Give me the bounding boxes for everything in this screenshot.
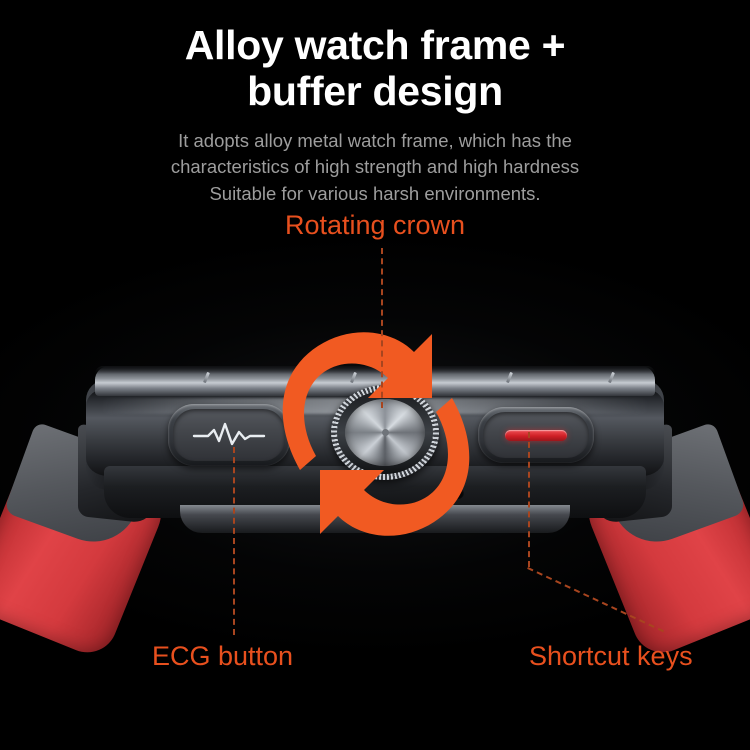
circular-rotation-arrows-icon <box>0 0 750 750</box>
smartwatch-side-view <box>0 0 750 750</box>
product-feature-slide: Alloy watch frame + buffer design It ado… <box>0 0 750 750</box>
callout-label-rotating-crown: Rotating crown <box>0 210 750 241</box>
callout-label-ecg-button: ECG button <box>152 641 293 672</box>
callout-label-shortcut-keys: Shortcut keys <box>529 641 693 672</box>
